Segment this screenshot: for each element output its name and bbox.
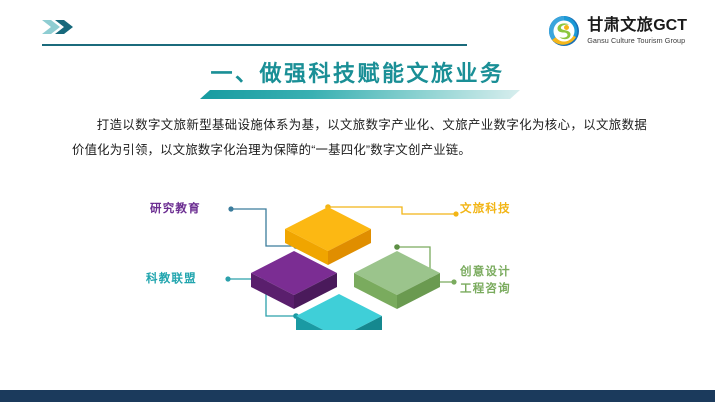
slide-canvas: 甘肃文旅GCT Gansu Culture Tourism Group 一、做强… bbox=[0, 0, 715, 402]
isometric-cube-diagram: 研究教育 科教联盟 文旅科技 创意设计 工程咨询 bbox=[120, 190, 570, 330]
connector-dot-design-label bbox=[451, 279, 456, 284]
brand-logo-text: 甘肃文旅GCT Gansu Culture Tourism Group bbox=[587, 18, 687, 44]
double-chevron-right-icon bbox=[42, 19, 82, 35]
diagram-label-design-line1: 创意设计 bbox=[460, 264, 511, 281]
diagram-label-alliance: 科教联盟 bbox=[146, 271, 197, 288]
brand-logo: 甘肃文旅GCT Gansu Culture Tourism Group bbox=[548, 14, 687, 48]
brand-name-en: Gansu Culture Tourism Group bbox=[587, 37, 687, 44]
connector-dot-research-label bbox=[228, 206, 233, 211]
cube-right-green bbox=[354, 251, 440, 309]
slide-header: 甘肃文旅GCT Gansu Culture Tourism Group bbox=[0, 0, 715, 58]
brand-abbr: GCT bbox=[653, 17, 687, 34]
page-title: 一、做强科技赋能文旅业务 bbox=[210, 62, 504, 86]
gansu-culture-tourism-circular-logo-icon bbox=[548, 15, 580, 47]
connector-dot-alliance-label bbox=[225, 276, 230, 281]
body-paragraph: 打造以数字文旅新型基础设施体系为基，以文旅数字产业化、文旅产业数字化为核心，以文… bbox=[72, 113, 647, 164]
diagram-label-tech: 文旅科技 bbox=[460, 201, 511, 218]
brand-name-cn: 甘肃文旅GCT bbox=[587, 18, 687, 34]
connector-dot-tech-label bbox=[453, 211, 458, 216]
title-underline-bar bbox=[200, 90, 520, 99]
diagram-label-design: 创意设计 工程咨询 bbox=[460, 264, 511, 297]
diagram-label-research: 研究教育 bbox=[150, 201, 201, 218]
section-title-wrap: 一、做强科技赋能文旅业务 bbox=[0, 62, 715, 86]
footer-bar bbox=[0, 390, 715, 402]
connector-tech bbox=[328, 207, 456, 214]
diagram-label-design-line2: 工程咨询 bbox=[460, 281, 511, 298]
header-divider-line bbox=[42, 44, 467, 46]
connector-dot-design-node bbox=[394, 244, 400, 250]
